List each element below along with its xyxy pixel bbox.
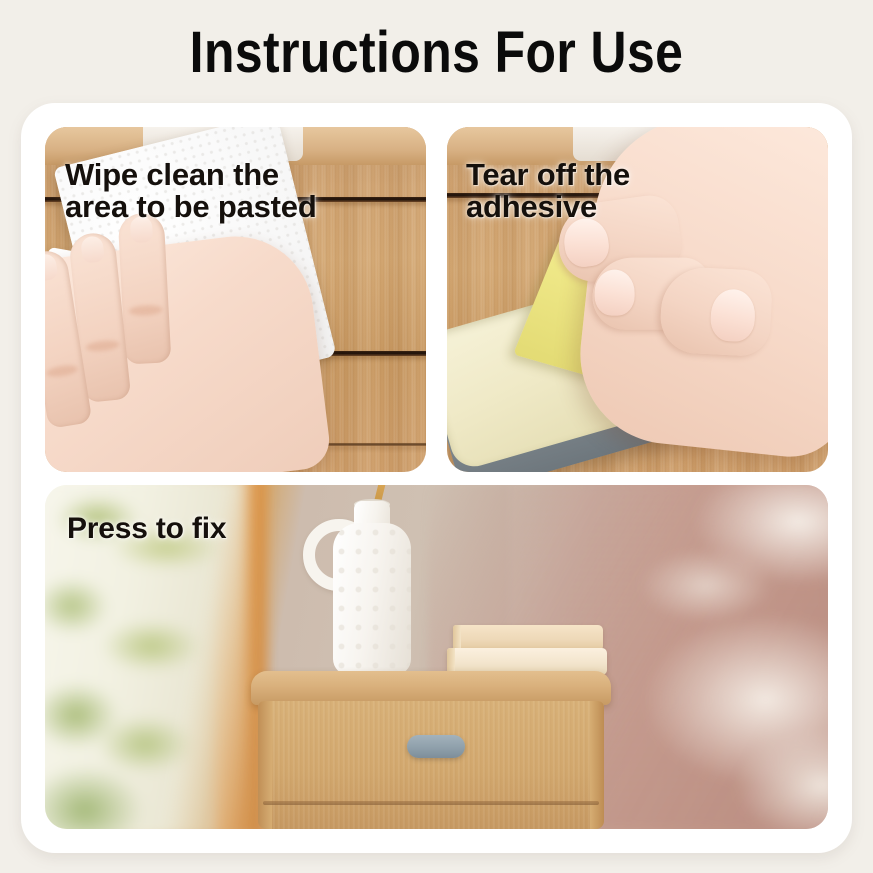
step-2-caption: Tear off the adhesive bbox=[466, 159, 630, 223]
fingernail-ring bbox=[45, 253, 59, 282]
knuckle-index bbox=[128, 305, 162, 317]
knuckle-ring bbox=[46, 364, 79, 379]
steps-row-top: Wipe clean the area to be pasted bbox=[45, 127, 828, 472]
drawer-divider-line bbox=[263, 801, 599, 805]
nightstand-left-edge bbox=[258, 701, 272, 829]
grey-handle-installed bbox=[407, 735, 465, 758]
nightstand-body bbox=[258, 701, 604, 829]
ceramic-vase bbox=[333, 523, 411, 675]
fingernail-middle-2 bbox=[710, 288, 757, 342]
nightstand-right-edge bbox=[590, 701, 604, 829]
page-title: Instructions For Use bbox=[61, 18, 812, 88]
step-1-caption: Wipe clean the area to be pasted bbox=[65, 159, 317, 223]
instructions-infographic: Instructions For Use bbox=[0, 0, 873, 873]
steps-grid: Wipe clean the area to be pasted bbox=[45, 127, 828, 829]
finger-index bbox=[118, 212, 172, 364]
hand-wiping bbox=[45, 228, 333, 472]
fingernail-middle bbox=[80, 235, 105, 263]
nightstand-top bbox=[251, 671, 611, 705]
instructions-card: Wipe clean the area to be pasted bbox=[21, 103, 852, 853]
step-2-panel[interactable]: Tear off the adhesive bbox=[447, 127, 828, 472]
fingernail-index-2 bbox=[595, 270, 635, 316]
step-3-caption: Press to fix bbox=[67, 513, 226, 544]
finger-middle-2 bbox=[659, 266, 773, 358]
step-3-panel[interactable]: Press to fix bbox=[45, 485, 828, 829]
step-1-panel[interactable]: Wipe clean the area to be pasted bbox=[45, 127, 426, 472]
knuckle-middle bbox=[85, 339, 120, 352]
